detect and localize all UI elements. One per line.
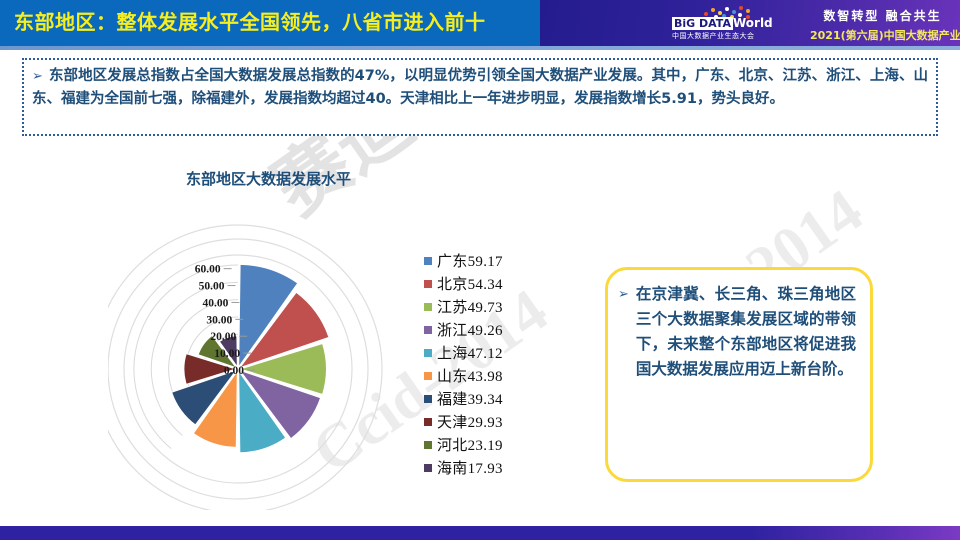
legend-swatch-icon (424, 372, 432, 380)
legend-label: 福建39.34 (437, 388, 503, 409)
chart-title: 东部地区大数据发展水平 (186, 168, 351, 189)
legend-label: 浙江49.26 (437, 319, 503, 340)
legend-swatch-icon (424, 303, 432, 311)
legend-label: 河北23.19 (437, 434, 503, 455)
summary-text-content: ➢东部地区发展总指数占全国大数据发展总指数的47%，以明显优势引领全国大数据产业… (24, 60, 936, 111)
legend-swatch-icon (424, 349, 432, 357)
legend-swatch-icon (424, 441, 432, 449)
logo-subtitle: 中国大数据产业生态大会 (672, 31, 802, 41)
radial-axis-tick-label: 20.00 (210, 331, 236, 343)
legend-swatch-icon (424, 280, 432, 288)
summary-text-box: ➢东部地区发展总指数占全国大数据发展总指数的47%，以明显优势引领全国大数据产业… (22, 58, 938, 136)
conference-logo: BiG DATAWorld 中国大数据产业生态大会 (672, 6, 802, 42)
polar-area-chart: 0.0010.0020.0030.0040.0050.0060.00 (108, 200, 408, 510)
legend-item: 福建39.34 (424, 387, 549, 410)
legend-label: 上海47.12 (437, 342, 503, 363)
legend-label: 江苏49.73 (437, 296, 503, 317)
legend-swatch-icon (424, 395, 432, 403)
legend-item: 北京54.34 (424, 272, 549, 295)
legend-item: 海南17.93 (424, 456, 549, 479)
summary-paragraph: 东部地区发展总指数占全国大数据发展总指数的47%，以明显优势引领全国大数据产业发… (32, 68, 928, 107)
legend-item: 河北23.19 (424, 433, 549, 456)
legend-swatch-icon (424, 257, 432, 265)
chart-canvas: 0.0010.0020.0030.0040.0050.0060.00 (108, 200, 408, 510)
legend-swatch-icon (424, 418, 432, 426)
legend-item: 江苏49.73 (424, 295, 549, 318)
chart-slices (172, 264, 329, 452)
slogan-line-2: 2021(第六届)中国大数据产业生态大会 (810, 27, 955, 43)
conclusion-callout-box: ➢ 在京津冀、长三角、珠三角地区三个大数据聚集发展区域的带领下，未来整个东部地区… (605, 267, 873, 482)
radial-axis-tick-label: 0.00 (224, 365, 244, 377)
legend-swatch-icon (424, 464, 432, 472)
logo-wordmark: BiG DATAWorld (672, 17, 802, 30)
legend-item: 山东43.98 (424, 364, 549, 387)
arrow-bullet-icon: ➢ (618, 282, 629, 382)
legend-item: 天津29.93 (424, 410, 549, 433)
legend-label: 海南17.93 (437, 457, 503, 478)
chart-legend: 广东59.17北京54.34江苏49.73浙江49.26上海47.12山东43.… (424, 249, 549, 479)
header-divider (0, 46, 960, 50)
conclusion-paragraph: 在京津冀、长三角、珠三角地区三个大数据聚集发展区域的带领下，未来整个东部地区将促… (636, 282, 856, 382)
conference-slogan: 数智转型 融合共生 2021(第六届)中国大数据产业生态大会 (810, 7, 955, 43)
radial-axis-tick-label: 50.00 (199, 281, 225, 293)
radial-axis-tick-label: 30.00 (206, 314, 232, 326)
legend-item: 上海47.12 (424, 341, 549, 364)
app-header: 东部地区：整体发展水平全国领先，八省市进入前十 BiG DATAWorld 中国… (0, 0, 960, 46)
legend-label: 山东43.98 (437, 365, 503, 386)
legend-item: 广东59.17 (424, 249, 549, 272)
logo-bigdata-text: BiG DATA (672, 17, 733, 30)
legend-label: 天津29.93 (437, 411, 503, 432)
legend-swatch-icon (424, 326, 432, 334)
legend-label: 广东59.17 (437, 250, 503, 271)
slogan-line-1: 数智转型 融合共生 (810, 7, 955, 24)
footer-bar (0, 526, 960, 540)
conclusion-callout-content: ➢ 在京津冀、长三角、珠三角地区三个大数据聚集发展区域的带领下，未来整个东部地区… (608, 270, 870, 382)
legend-label: 北京54.34 (437, 273, 503, 294)
legend-item: 浙江49.26 (424, 318, 549, 341)
radial-axis-tick-label: 60.00 (195, 264, 221, 276)
logo-world-text: World (733, 16, 773, 30)
page-title: 东部地区：整体发展水平全国领先，八省市进入前十 (14, 6, 486, 35)
radial-axis-tick-label: 40.00 (203, 297, 229, 309)
arrow-bullet-icon: ➢ (32, 69, 43, 84)
radial-axis-tick-label: 10.00 (214, 348, 240, 360)
